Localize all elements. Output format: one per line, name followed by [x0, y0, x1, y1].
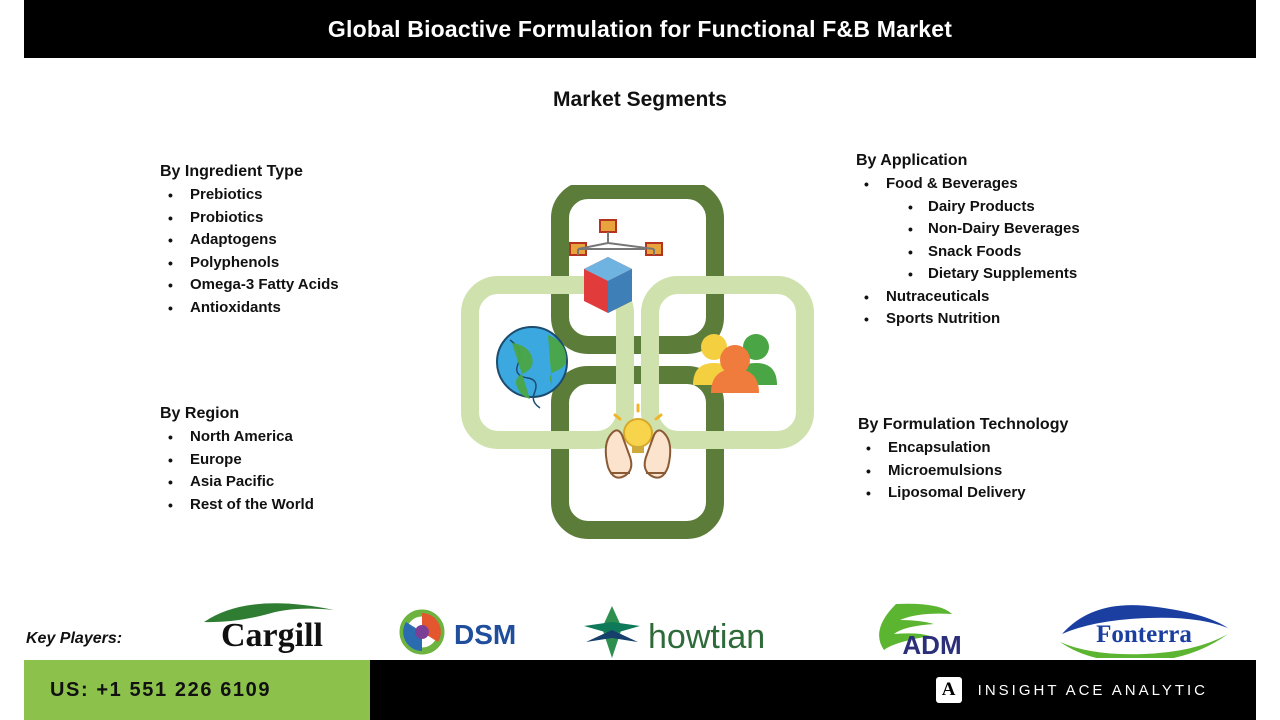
- list-item: Nutraceuticals: [856, 286, 1080, 309]
- logo-howtian-text: howtian: [648, 618, 765, 656]
- list-item: Europe: [160, 449, 314, 472]
- list-item: Encapsulation: [858, 437, 1068, 460]
- footer-brand-bar: A INSIGHT ACE ANALYTIC: [370, 660, 1256, 720]
- segment-block-ingredient-type: By Ingredient Type Prebiotics Probiotics…: [160, 163, 339, 319]
- logo-cargill-text: Cargill: [221, 617, 323, 654]
- segment-block-formulation-technology: By Formulation Technology Encapsulation …: [858, 416, 1068, 505]
- list-item: Microemulsions: [858, 460, 1068, 483]
- logo-howtian: howtian: [578, 604, 808, 660]
- slide-root: Global Bioactive Formulation for Functio…: [0, 0, 1280, 720]
- footer-contact-bar: US: +1 551 226 6109: [24, 660, 370, 720]
- people-icon: [693, 334, 777, 393]
- list-item: Probiotics: [160, 207, 339, 230]
- list-item: Polyphenols: [160, 252, 339, 275]
- logo-fonterra: Fonterra: [1056, 600, 1232, 658]
- list-item: Prebiotics: [160, 184, 339, 207]
- brand-lockup: A INSIGHT ACE ANALYTIC: [936, 677, 1256, 703]
- logo-dsm: DSM: [398, 608, 538, 656]
- idea-hands-icon: [606, 405, 671, 478]
- segment-list-application-rest: Nutraceuticals Sports Nutrition: [856, 286, 1080, 331]
- segment-block-region: By Region North America Europe Asia Paci…: [160, 405, 314, 516]
- key-players-label: Key Players:: [26, 630, 122, 648]
- list-item: Sports Nutrition: [856, 308, 1080, 331]
- segment-list-application: Food & Beverages: [856, 173, 1080, 196]
- segment-block-application: By Application Food & Beverages Dairy Pr…: [856, 152, 1080, 331]
- list-item: Asia Pacific: [160, 471, 314, 494]
- list-item: Adaptogens: [160, 229, 339, 252]
- interlocking-squares-graphic: [460, 185, 820, 540]
- brand-name: INSIGHT ACE ANALYTIC: [978, 682, 1208, 699]
- page-title: Global Bioactive Formulation for Functio…: [328, 16, 952, 43]
- list-item: North America: [160, 426, 314, 449]
- footer-phone[interactable]: US: +1 551 226 6109: [24, 679, 271, 702]
- segment-title-formulation-technology: By Formulation Technology: [858, 416, 1068, 434]
- logo-fonterra-text: Fonterra: [1096, 621, 1192, 648]
- list-item: Antioxidants: [160, 297, 339, 320]
- list-item: Non-Dairy Beverages: [902, 218, 1080, 241]
- segment-title-application: By Application: [856, 152, 1080, 170]
- segment-title-region: By Region: [160, 405, 314, 423]
- segment-sublist-application: Dairy Products Non-Dairy Beverages Snack…: [902, 196, 1080, 286]
- list-item: Food & Beverages: [856, 173, 1080, 196]
- brand-logo-icon: A: [936, 677, 962, 703]
- segment-list-region: North America Europe Asia Pacific Rest o…: [160, 426, 314, 516]
- logo-adm: ADM: [862, 600, 1002, 658]
- list-item: Dietary Supplements: [902, 263, 1080, 286]
- logo-dsm-text: DSM: [454, 619, 516, 650]
- list-item: Dairy Products: [902, 196, 1080, 219]
- list-item: Rest of the World: [160, 494, 314, 517]
- segment-list-ingredient-type: Prebiotics Probiotics Adaptogens Polyphe…: [160, 184, 339, 319]
- section-title: Market Segments: [0, 88, 1280, 112]
- segment-title-ingredient-type: By Ingredient Type: [160, 163, 339, 181]
- segment-list-formulation-technology: Encapsulation Microemulsions Liposomal D…: [858, 437, 1068, 505]
- list-item: Snack Foods: [902, 241, 1080, 264]
- list-item: Omega-3 Fatty Acids: [160, 274, 339, 297]
- logo-cargill: Cargill: [186, 596, 358, 658]
- logo-adm-text: ADM: [902, 630, 961, 658]
- header-bar: Global Bioactive Formulation for Functio…: [24, 0, 1256, 58]
- list-item: Liposomal Delivery: [858, 482, 1068, 505]
